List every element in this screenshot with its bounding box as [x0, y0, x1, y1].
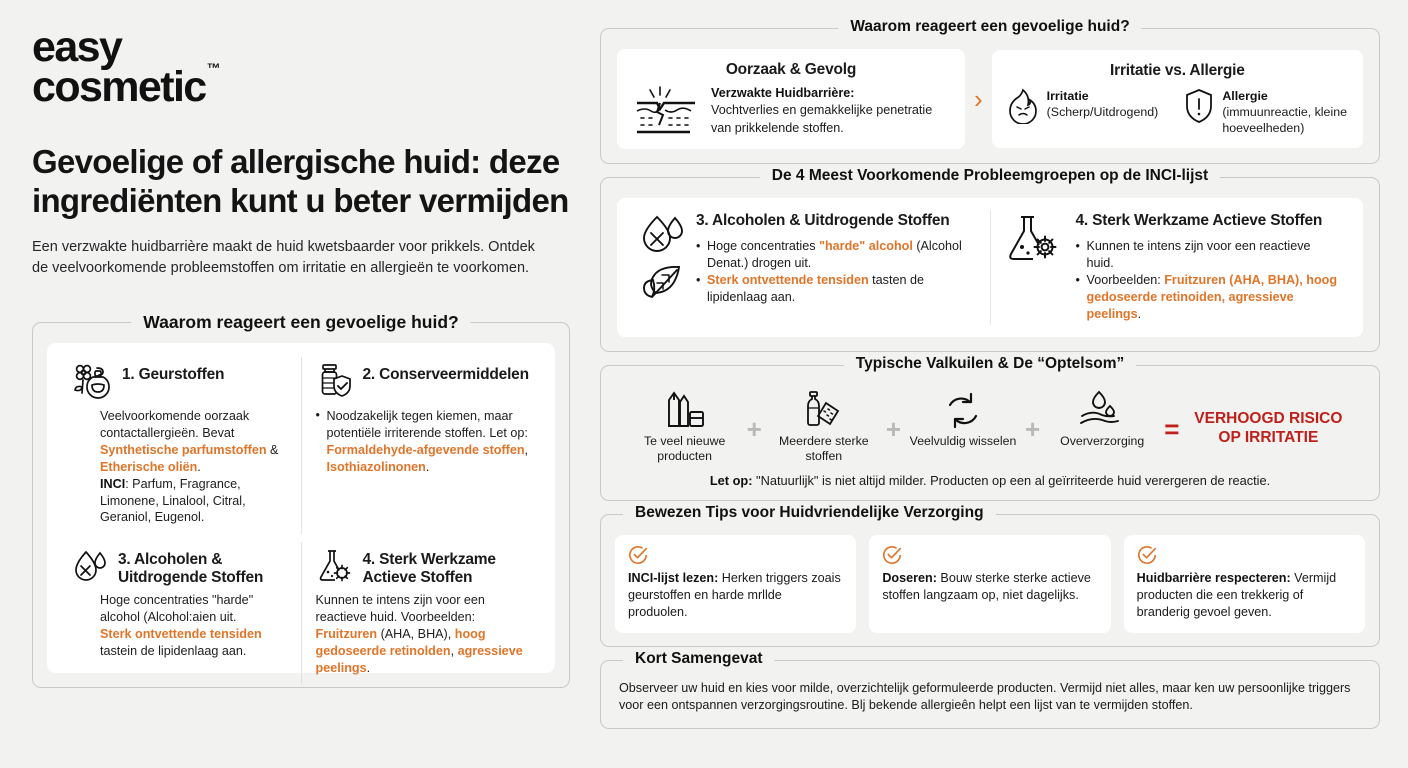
highlight-harde-alcohol: "harde" alcohol: [819, 239, 913, 253]
problem-line-1: Kunnen te intens zijn voor een reactieve…: [316, 593, 485, 624]
highlight-fruitzuren: Fruitzuren: [316, 627, 378, 641]
left-row-bottom: 3. Alcoholen & Uitdrogende Stoffen Hoge …: [57, 542, 545, 684]
tip-text: INCI-lijst lezen: Herken triggers zoais …: [628, 570, 843, 621]
problem-line-2: tastein de lipidenlaag aan.: [100, 644, 246, 658]
tip-card-doseren: Doseren: Bouw sterke sterke actieve stof…: [869, 535, 1110, 632]
problem-header: 4. Sterk Werkzame Actieve Stoffen: [316, 548, 532, 587]
pitfall-label: Veelvuldig wisselen: [905, 434, 1021, 449]
tips-row: INCI-lijst lezen: Herken triggers zoais …: [615, 535, 1365, 632]
problem-header: 1. Geurstoffen: [71, 363, 287, 403]
tip-text: Doseren: Bouw sterke sterke actieve stof…: [882, 570, 1097, 604]
left-panel-legend: Waarom reageert een gevoelige huid?: [131, 312, 470, 333]
why-panel-legend: Waarom reageert een gevoelige huid?: [838, 18, 1141, 36]
problem-card-actieve-stoffen: 4. Sterk Werkzame Actieve Stoffen Kunnen…: [301, 542, 546, 684]
tips-panel-legend: Bewezen Tips voor Huidvriendelijke Verzo…: [623, 504, 996, 522]
check-circle-icon: [628, 545, 843, 565]
note-bold: Let op:: [710, 473, 753, 488]
card-body: Verzwakte Huidbarrière: Vochtverlies en …: [633, 85, 949, 137]
hand-droplet-icon: [1044, 390, 1160, 430]
problem-title: 2. Conserveermiddelen: [363, 363, 529, 384]
bullet-post: .: [1138, 307, 1142, 321]
card-title: Irritatie vs. Allergie: [1008, 62, 1347, 80]
pitfalls-note: Let op: "Natuurlijk" is niet altijd mild…: [617, 473, 1363, 488]
group-content: 4. Sterk Werkzame Actieve Stoffen Kunnen…: [1076, 212, 1342, 323]
pitfall-item-2: Meerdere sterke stoffen: [766, 390, 882, 464]
infographic-page: easy cosmetic™ Gevoelige of allergische …: [0, 0, 1408, 768]
list-item: Hoge concentraties "harde" alcohol (Alco…: [696, 238, 974, 272]
flask-gear-icon: [316, 548, 354, 586]
card-title: Oorzaak & Gevolg: [633, 61, 949, 79]
problem-line-1: Hoge concentraties "harde" alcohol (Alco…: [100, 593, 253, 624]
summary-panel: Kort Samengevat Observeer uw huid en kie…: [600, 660, 1380, 729]
list-item: Sterk ontvettende tensiden tasten de lip…: [696, 272, 974, 306]
tips-panel: Bewezen Tips voor Huidvriendelijke Verzo…: [600, 514, 1380, 646]
flame-face-icon: [1008, 88, 1038, 124]
leaf-icon: [639, 264, 685, 304]
plus-operator: +: [886, 390, 901, 445]
risk-statement: VERHOOGD RISICO OP IRRITATIE: [1183, 390, 1353, 448]
tip-card-huidbarriere: Huidbarrière respecteren: Vermijd produc…: [1124, 535, 1365, 632]
pitfalls-panel-legend: Typische Valkuilen & De “Optelsom”: [844, 355, 1136, 373]
page-title: Gevoelige of allergische huid: deze ingr…: [32, 143, 570, 221]
group-content: 3. Alcoholen & Uitdrogende Stoffen Hoge …: [696, 212, 974, 323]
why-row: Oorzaak & Gevolg: [617, 49, 1363, 149]
chevron-right-icon: ›: [965, 86, 992, 112]
groups-inner: 3. Alcoholen & Uitdrogende Stoffen Hoge …: [617, 198, 1363, 337]
irritation-allergy-card: Irritatie vs. Allergie I: [992, 50, 1363, 148]
pitfall-label: Oververzorging: [1044, 434, 1160, 449]
bullet-pre: Hoge concentraties: [707, 239, 819, 253]
bottle-sachet-icon: [766, 390, 882, 430]
product-boxes-icon: [627, 390, 743, 430]
list-item: Kunnen te intens zijn voor een reactieve…: [1076, 238, 1342, 272]
equals-operator: =: [1164, 390, 1179, 445]
irritation-item: Irritatie (Scherp/Uitdrogend): [1008, 88, 1170, 136]
problem-body: Noodzakelijk tegen kiemen, maar potentië…: [316, 408, 532, 476]
pitfall-label: Te veel nieuwe producten: [627, 434, 743, 464]
item-title: Irritatie: [1047, 89, 1089, 103]
tip-card-inci: INCI-lijst lezen: Herken triggers zoais …: [615, 535, 856, 632]
groups-panel-legend: De 4 Meest Voorkomende Probleemgroepen o…: [760, 167, 1220, 185]
list-item: Voorbeelden: Fruitzuren (AHA, BHA), hoog…: [1076, 272, 1342, 323]
tip-title: Huidbarrière respecteren:: [1137, 571, 1291, 585]
shield-exclamation-icon: [1185, 88, 1213, 124]
pitfall-item-3: Veelvuldig wisselen: [905, 390, 1021, 449]
highlight-synthetische-parfumstoffen: Synthetische parfumstoffen: [100, 443, 267, 457]
group-icons: [639, 212, 685, 323]
problem-card-alcoholen: 3. Alcoholen & Uitdrogende Stoffen Hoge …: [57, 542, 301, 684]
plus-operator: +: [747, 390, 762, 445]
groups-panel: De 4 Meest Voorkomende Probleemgroepen o…: [600, 177, 1380, 352]
tip-title: INCI-lijst lezen:: [628, 571, 718, 585]
body-text: Vochtverlies en gemakkelijke penetratie …: [711, 103, 932, 134]
group-list: Hoge concentraties "harde" alcohol (Alco…: [696, 238, 974, 307]
highlight-etherische-olien: Etherische oliën: [100, 460, 197, 474]
group-card-actieve-stoffen: 4. Sterk Werkzame Actieve Stoffen Kunnen…: [990, 210, 1358, 325]
highlight-isothiazolinonen: Isothiazolinonen: [327, 460, 426, 474]
problem-card-geurstoffen: 1. Geurstoffen Veelvoorkomende oorzaak c…: [57, 357, 301, 534]
pitfalls-equation: Te veel nieuwe producten + Meerdere ster…: [617, 386, 1363, 466]
pitfalls-panel: Typische Valkuilen & De “Optelsom” Te ve…: [600, 365, 1380, 501]
droplet-x-icon: [639, 214, 685, 258]
problem-header: 3. Alcoholen & Uitdrogende Stoffen: [71, 548, 287, 587]
problem-card-conserveermiddelen: 2. Conserveermiddelen Noodzakelijk tegen…: [301, 357, 546, 534]
check-circle-icon: [1137, 545, 1352, 565]
bold-lead: Verzwakte Huidbarrière:: [711, 86, 855, 100]
group-title: 3. Alcoholen & Uitdrogende Stoffen: [696, 212, 974, 231]
tip-title: Doseren:: [882, 571, 937, 585]
pitfall-label: Meerdere sterke stoffen: [766, 434, 882, 464]
group-list: Kunnen te intens zijn voor een reactieve…: [1076, 238, 1342, 324]
group-icons: [1007, 212, 1065, 323]
problem-body: Veelvoorkomende oorzaak contactallergieë…: [71, 408, 287, 526]
droplet-x-icon: [71, 548, 109, 586]
pitfall-item-4: Oververzorging: [1044, 390, 1160, 449]
problem-body: Kunnen te intens zijn voor een reactieve…: [316, 592, 532, 676]
left-column: easy cosmetic™ Gevoelige of allergische …: [0, 0, 600, 768]
irritation-allergy-row: Irritatie (Scherp/Uitdrogend): [1008, 88, 1347, 136]
problem-mid: (AHA, BHA),: [377, 627, 455, 641]
list-item: Noodzakelijk tegen kiemen, maar potentië…: [316, 408, 532, 476]
highlight-formaldehyde: Formaldehyde-afgevende stoffen: [327, 443, 525, 457]
page-lede: Een verzwakte huidbarrière maakt de huid…: [32, 237, 552, 278]
left-problem-panel: Waarom reageert een gevoelige huid?: [32, 322, 570, 688]
highlight-tensiden: Sterk ontvettende tensiden: [100, 627, 262, 641]
item-sub: (Scherp/Uitdrogend): [1047, 105, 1159, 119]
flask-gear-icon: [1007, 214, 1065, 266]
right-column: Waarom reageert een gevoelige huid? Oorz…: [600, 0, 1408, 768]
brand-logo: easy cosmetic™: [32, 28, 220, 107]
problem-body: Hoge concentraties "harde" alcohol (Alco…: [71, 592, 287, 660]
plus-operator: +: [1025, 390, 1040, 445]
note-text: "Natuurlijk" is niet altijd milder. Prod…: [752, 473, 1270, 488]
item-text: Allergie (immuunreactie, kleine hoeveelh…: [1222, 88, 1347, 136]
summary-text: Observeer uw huid en kies voor milde, ov…: [619, 680, 1361, 715]
vial-shield-check-icon: [316, 363, 354, 403]
group-title: 4. Sterk Werkzame Actieve Stoffen: [1076, 212, 1342, 231]
problem-header: 2. Conserveermiddelen: [316, 363, 532, 403]
summary-panel-legend: Kort Samengevat: [623, 650, 774, 668]
trademark-symbol: ™: [207, 60, 221, 76]
flower-perfume-icon: [71, 363, 113, 403]
item-sub: (immuunreactie, kleine hoeveelheden): [1222, 105, 1347, 135]
highlight-tensiden: Sterk ontvettende tensiden: [707, 273, 869, 287]
item-text: Irritatie (Scherp/Uitdrogend): [1047, 88, 1159, 120]
tip-text: Huidbarrière respecteren: Vermijd produc…: [1137, 570, 1352, 621]
label-inci: INCI: [100, 477, 125, 491]
pitfall-item-1: Te veel nieuwe producten: [627, 390, 743, 464]
bullet-pre: Voorbeelden:: [1087, 273, 1165, 287]
cause-effect-card: Oorzaak & Gevolg: [617, 49, 965, 149]
problem-title: 3. Alcoholen & Uitdrogende Stoffen: [118, 548, 287, 587]
problem-title: 4. Sterk Werkzame Actieve Stoffen: [363, 548, 532, 587]
left-panel-card: 1. Geurstoffen Veelvoorkomende oorzaak c…: [47, 343, 555, 673]
left-row-top: 1. Geurstoffen Veelvoorkomende oorzaak c…: [57, 357, 545, 534]
item-title: Allergie: [1222, 89, 1267, 103]
why-panel: Waarom reageert een gevoelige huid? Oorz…: [600, 28, 1380, 164]
refresh-cycle-icon: [905, 390, 1021, 430]
card-text: Verzwakte Huidbarrière: Vochtverlies en …: [711, 85, 949, 136]
group-card-alcoholen: 3. Alcoholen & Uitdrogende Stoffen Hoge …: [623, 210, 990, 325]
cracked-skin-barrier-icon: [633, 85, 699, 137]
check-circle-icon: [882, 545, 1097, 565]
problem-title: 1. Geurstoffen: [122, 363, 224, 384]
allergy-item: Allergie (immuunreactie, kleine hoeveelh…: [1185, 88, 1347, 136]
brand-line-2: cosmetic™: [32, 68, 220, 108]
